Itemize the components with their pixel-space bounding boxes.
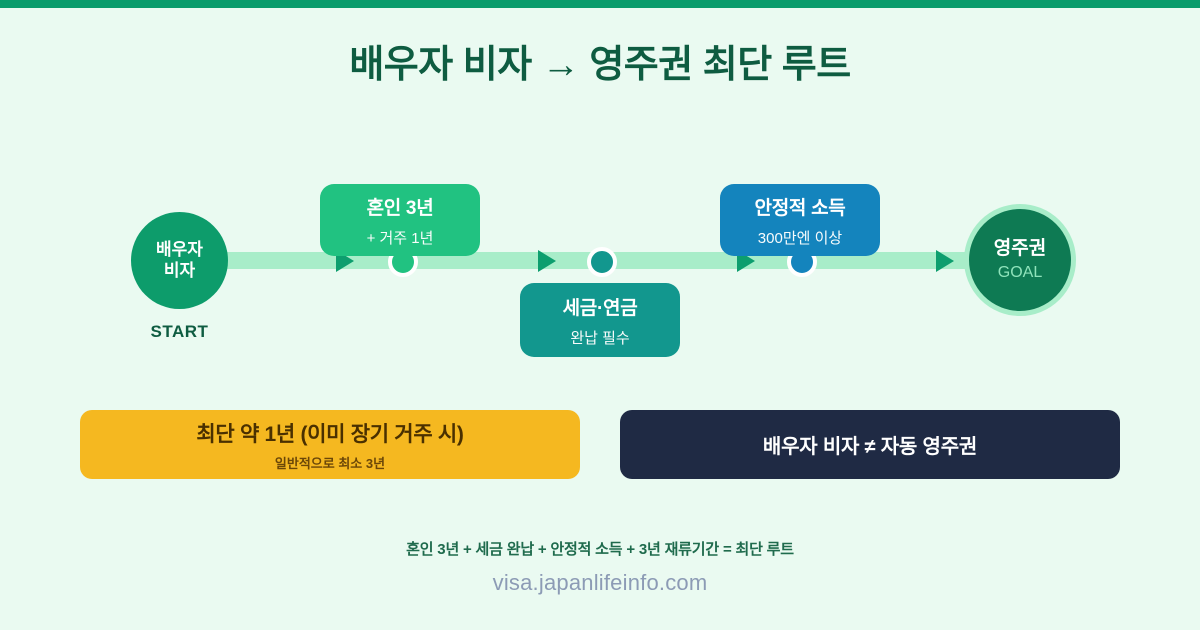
footer-url: visa.japanlifeinfo.com [0,570,1200,596]
timeline-arrow-icon-4 [936,250,954,272]
duration-summary-box: 최단 약 1년 (이미 장기 거주 시) 일반적으로 최소 3년 [80,410,580,479]
duration-summary-title: 최단 약 1년 (이미 장기 거주 시) [196,418,463,448]
warning-summary-title: 배우자 비자 ≠ 자동 영주권 [763,430,977,459]
top-accent-bar [0,0,1200,8]
start-node-caption: START [131,322,228,342]
step-card-3-title: 안정적 소득 [755,193,846,220]
page-title: 배우자 비자 → 영주권 최단 루트 [0,33,1200,88]
start-node: 배우자 비자 [131,212,228,309]
warning-summary-box: 배우자 비자 ≠ 자동 영주권 [620,410,1120,479]
goal-node: 영주권 GOAL [964,204,1076,316]
goal-node-title: 영주권 [994,237,1046,260]
timeline-dot-step-2 [587,247,617,277]
goal-node-subtitle: GOAL [998,263,1042,283]
step-card-2-subtitle: 완납 필수 [570,327,629,348]
step-card-3-subtitle: 300만엔 이상 [758,227,842,248]
step-card-1-title: 혼인 3년 [367,193,434,220]
step-card-1: 혼인 3년 + 거주 1년 [320,184,480,256]
start-node-line2: 비자 [164,261,195,282]
duration-summary-subtitle: 일반적으로 최소 3년 [275,453,385,472]
step-card-3: 안정적 소득 300만엔 이상 [720,184,880,256]
step-card-2-title: 세금·연금 [563,293,638,320]
step-card-2: 세금·연금 완납 필수 [520,283,680,357]
footer-formula: 혼인 3년 + 세금 완납 + 안정적 소득 + 3년 재류기간 = 최단 루트 [0,538,1200,559]
start-node-line1: 배우자 [156,240,203,261]
step-card-1-subtitle: + 거주 1년 [367,227,434,248]
timeline-arrow-icon-2 [538,250,556,272]
infographic-canvas: 배우자 비자 → 영주권 최단 루트 배우자 비자 START 혼인 3년 + … [0,0,1200,630]
